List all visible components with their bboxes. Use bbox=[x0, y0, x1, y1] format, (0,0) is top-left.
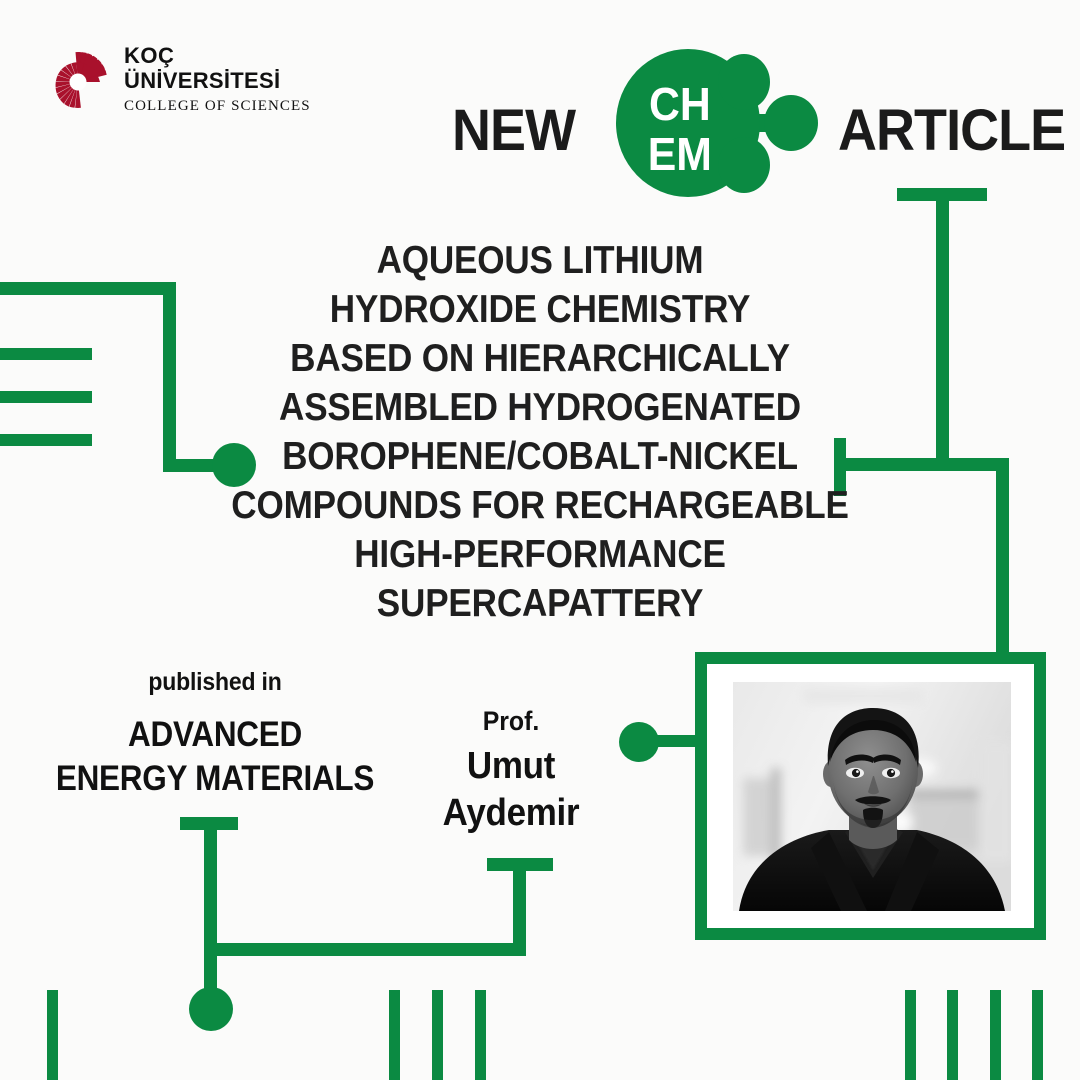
journal-block: published in ADVANCED ENERGY MATERIALS bbox=[20, 668, 410, 801]
author-block: Prof. Umut Aydemir bbox=[400, 706, 622, 837]
published-in-label: published in bbox=[36, 668, 395, 697]
circuit-line bbox=[204, 943, 526, 956]
journal-name-line: ENERGY MATERIALS bbox=[40, 757, 391, 801]
article-title-line: HYDROXIDE CHEMISTRY bbox=[162, 285, 918, 334]
circuit-line bbox=[204, 817, 217, 1013]
circuit-stub bbox=[990, 990, 1001, 1080]
article-title-line: HIGH-PERFORMANCE bbox=[162, 530, 918, 579]
circuit-stub bbox=[947, 990, 958, 1080]
circuit-stub bbox=[475, 990, 486, 1080]
author-name: Umut Aydemir bbox=[409, 743, 613, 837]
circuit-stub bbox=[389, 990, 400, 1080]
article-title-line: ASSEMBLED HYDROGENATED bbox=[162, 383, 918, 432]
circuit-line bbox=[0, 282, 176, 295]
header-banner: NEW ARTICLE CH EM bbox=[0, 28, 1080, 178]
circuit-line bbox=[996, 458, 1009, 658]
journal-name-line: ADVANCED bbox=[40, 713, 391, 757]
circuit-line bbox=[513, 858, 526, 956]
circuit-stub bbox=[0, 391, 92, 403]
author-portrait-photo bbox=[733, 682, 1011, 911]
article-title-line: AQUEOUS LITHIUM bbox=[162, 236, 918, 285]
chem-logo-bottom-text: EM bbox=[648, 130, 712, 181]
circuit-node-dot bbox=[619, 722, 659, 762]
header-word-article: ARTICLE bbox=[838, 102, 1065, 160]
header-word-new: NEW bbox=[452, 102, 575, 160]
poster-canvas: KOÇ ÜNİVERSİTESİ COLLEGE OF SCIENCES NEW… bbox=[0, 0, 1080, 1080]
article-title: AQUEOUS LITHIUM HYDROXIDE CHEMISTRY BASE… bbox=[162, 236, 918, 628]
circuit-stub bbox=[0, 434, 92, 446]
circuit-stub bbox=[1032, 990, 1043, 1080]
circuit-stub bbox=[0, 348, 92, 360]
circuit-stub bbox=[47, 990, 58, 1080]
circuit-node-dot bbox=[189, 987, 233, 1031]
author-title: Prof. bbox=[409, 706, 613, 737]
article-title-line: BOROPHENE/COBALT-NICKEL bbox=[162, 432, 918, 481]
article-title-line: SUPERCAPATTERY bbox=[162, 579, 918, 628]
circuit-stub bbox=[905, 990, 916, 1080]
circuit-line bbox=[936, 188, 949, 471]
author-name-line: Aydemir bbox=[409, 790, 613, 837]
article-title-line: COMPOUNDS FOR RECHARGEABLE bbox=[162, 481, 918, 530]
circuit-stub bbox=[432, 990, 443, 1080]
article-title-line: BASED ON HIERARCHICALLY bbox=[162, 334, 918, 383]
journal-name: ADVANCED ENERGY MATERIALS bbox=[40, 713, 391, 801]
chem-logo-top-text: CH bbox=[649, 80, 711, 131]
author-name-line: Umut bbox=[409, 743, 613, 790]
circuit-stub bbox=[487, 858, 553, 871]
chem-molecule-icon: CH EM bbox=[578, 48, 824, 198]
